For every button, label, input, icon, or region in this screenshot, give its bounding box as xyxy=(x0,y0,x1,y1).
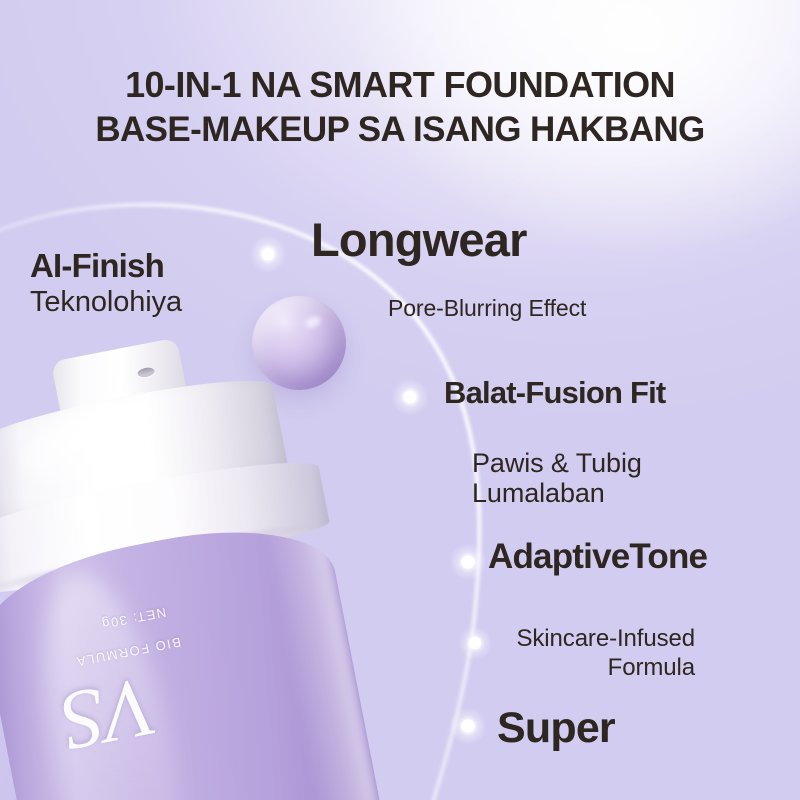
headline-line-1: 10-IN-1 NA SMART FOUNDATION xyxy=(0,66,800,105)
feature-balat-fusion-subtitle: Pawis & Tubig Lumalaban xyxy=(472,448,642,508)
bottle-body-edge-light xyxy=(260,509,399,800)
feature-super-title: Super xyxy=(497,704,615,753)
feature-balat-fusion-title: Balat-Fusion Fit xyxy=(444,375,665,411)
product-promo-poster: 10-IN-1 NA SMART FOUNDATION BASE-MAKEUP … xyxy=(0,0,800,800)
product-bottle: NET: 30g BIO FORMULA VS xyxy=(0,315,441,800)
feature-longwear-subtitle: Pore-Blurring Effect xyxy=(388,295,586,322)
bottle-brand-monogram: VS xyxy=(55,663,163,763)
feature-adaptivetone-title: AdaptiveTone xyxy=(488,537,707,577)
feature-ai-finish-title: AI-Finish xyxy=(30,247,164,285)
feature-longwear-title: Longwear xyxy=(311,212,527,267)
feature-adaptivetone-subtitle: Skincare-Infused Formula xyxy=(507,625,695,683)
headline-line-2: BASE-MAKEUP SA ISANG HAKBANG xyxy=(0,111,800,149)
feature-ai-finish-subtitle: Teknolohiya xyxy=(30,286,182,319)
headline: 10-IN-1 NA SMART FOUNDATION BASE-MAKEUP … xyxy=(0,66,800,149)
